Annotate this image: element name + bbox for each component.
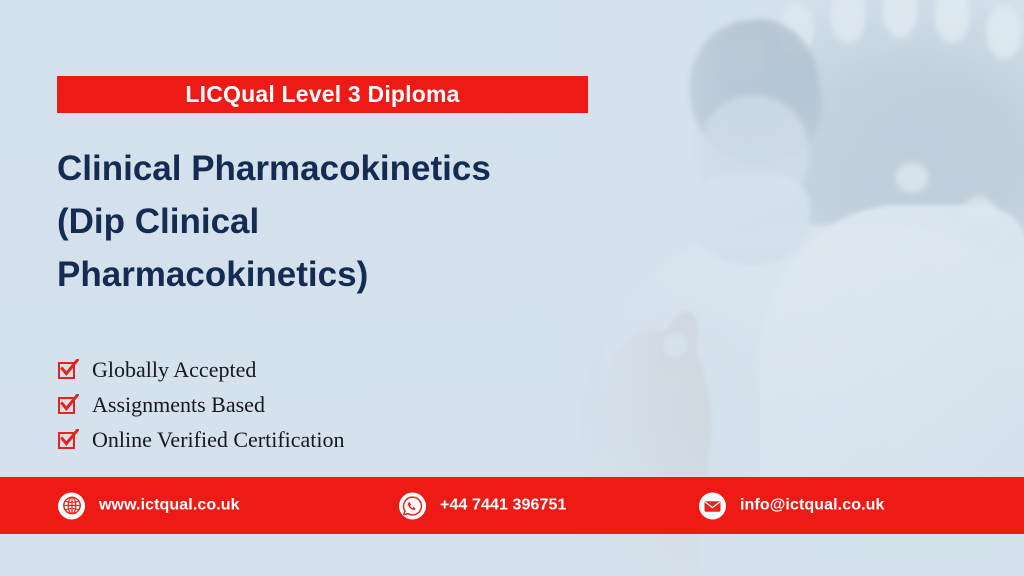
contact-email-label: info@ictqual.co.uk	[740, 497, 885, 515]
envelope-icon	[699, 492, 726, 519]
feature-item-label: Online Verified Certification	[92, 428, 345, 452]
course-title-line-2: (Dip Clinical	[57, 195, 617, 248]
checkbox-checked-icon	[57, 394, 79, 416]
course-title-line-3: Pharmacokinetics)	[57, 248, 617, 301]
contact-email[interactable]: info@ictqual.co.uk	[699, 492, 885, 519]
qualification-banner-label: LICQual Level 3 Diploma	[185, 81, 459, 108]
course-title: Clinical Pharmacokinetics (Dip Clinical …	[57, 142, 617, 301]
course-title-line-1: Clinical Pharmacokinetics	[57, 142, 617, 195]
contact-website-label: www.ictqual.co.uk	[99, 497, 240, 515]
feature-item-label: Globally Accepted	[92, 358, 256, 382]
contact-footer-bar: www.ictqual.co.uk +44 7441 396751 info@i…	[0, 477, 1024, 534]
feature-item: Globally Accepted	[57, 352, 345, 387]
feature-list: Globally Accepted Assignments Based Onli…	[57, 352, 345, 457]
contact-phone-label: +44 7441 396751	[440, 497, 567, 515]
whatsapp-icon	[399, 492, 426, 519]
qualification-banner: LICQual Level 3 Diploma	[57, 76, 588, 113]
globe-icon	[58, 492, 85, 519]
feature-item: Online Verified Certification	[57, 422, 345, 457]
checkbox-checked-icon	[57, 429, 79, 451]
contact-website[interactable]: www.ictqual.co.uk	[58, 492, 240, 519]
feature-item-label: Assignments Based	[92, 393, 265, 417]
feature-item: Assignments Based	[57, 387, 345, 422]
contact-phone[interactable]: +44 7441 396751	[399, 492, 567, 519]
course-promo-poster: LICQual Level 3 Diploma Clinical Pharmac…	[0, 0, 1024, 576]
checkbox-checked-icon	[57, 359, 79, 381]
